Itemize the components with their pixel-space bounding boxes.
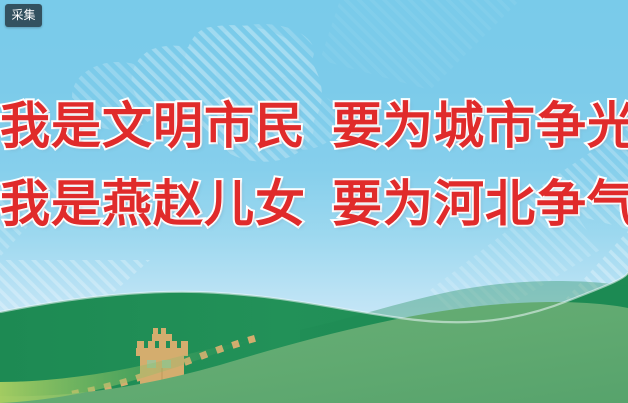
capture-button[interactable]: 采集: [5, 4, 42, 27]
landscape-illustration: [0, 0, 628, 403]
banner-image: 我是文明市民要为城市争光 我是燕赵儿女要为河北争气: [0, 0, 628, 403]
